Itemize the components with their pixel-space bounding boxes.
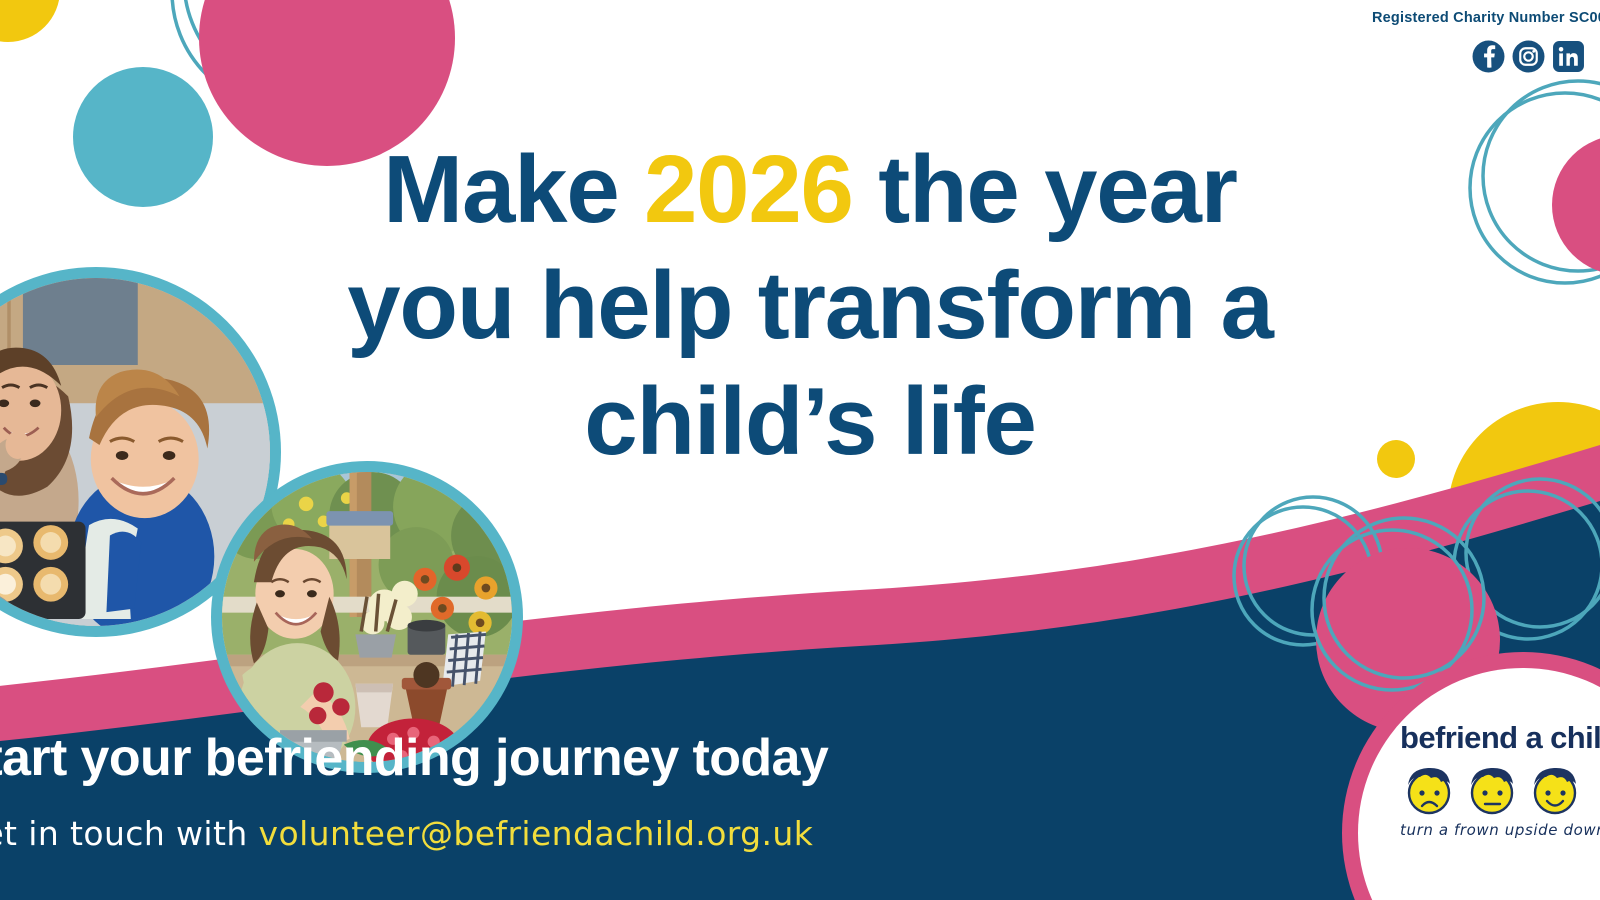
headline-year: 2026 xyxy=(644,136,853,243)
face-happy-icon xyxy=(1526,761,1584,817)
cta-text: start your befriending journey today xyxy=(0,728,828,788)
contact-text: get in touch with volunteer@befriendachi… xyxy=(0,814,813,853)
photo-gardening xyxy=(222,472,512,762)
logo-tagline: turn a frown upside down xyxy=(1400,821,1600,839)
photo-gardening-illustration xyxy=(222,472,512,762)
contact-email-link[interactable]: volunteer@befriendachild.org.uk xyxy=(259,814,814,853)
page-title: Make 2026 the year you help transform a … xyxy=(300,132,1320,480)
logo-faces xyxy=(1400,761,1600,817)
facebook-icon[interactable] xyxy=(1472,40,1505,73)
charity-registration-text: Registered Charity Number SC00 xyxy=(1372,10,1600,26)
face-sad-icon xyxy=(1400,761,1458,817)
decor-dot-yellow xyxy=(1377,440,1415,478)
contact-prefix: get in touch with xyxy=(0,814,259,853)
social-links xyxy=(1472,40,1585,73)
linkedin-icon[interactable] xyxy=(1552,40,1585,73)
logo-inner: befriend a child xyxy=(1400,720,1600,839)
headline-line-3: child’s life xyxy=(584,368,1036,475)
headline-make: Make xyxy=(383,136,644,243)
headline-the-year: the year xyxy=(853,136,1237,243)
face-neutral-icon xyxy=(1463,761,1521,817)
logo-wordmark: befriend a child xyxy=(1400,720,1600,756)
decor-circle-teal-top xyxy=(73,67,213,207)
headline-line-1: Make 2026 the year xyxy=(383,136,1237,243)
headline-line-2: you help transform a xyxy=(347,252,1273,359)
campaign-banner: Registered Charity Number SC00 Make 2026… xyxy=(0,0,1600,900)
instagram-icon[interactable] xyxy=(1512,40,1545,73)
